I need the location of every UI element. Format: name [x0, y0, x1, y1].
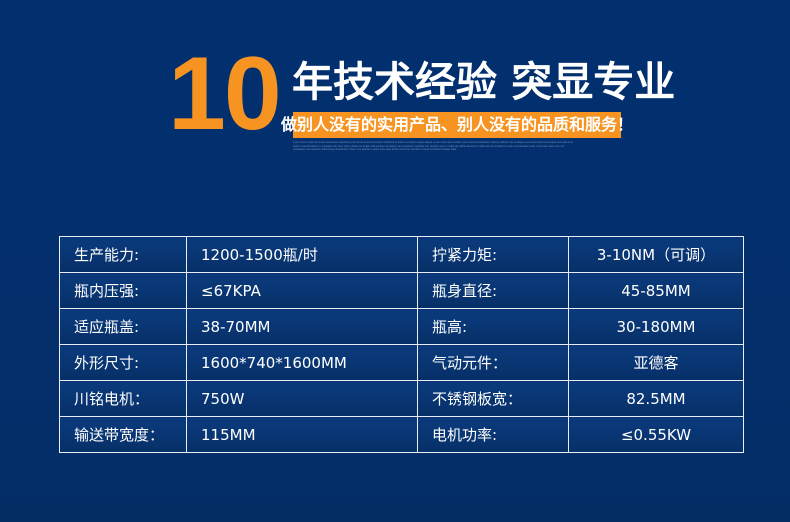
spec-label: 生产能力: — [60, 237, 187, 273]
spec-label: 不锈钢板宽： — [418, 381, 569, 417]
spec-label: 电机功率: — [418, 417, 569, 453]
spec-value: 45-85MM — [569, 273, 744, 309]
table-row: 适应瓶盖: 38-70MM 瓶高: 30-180MM — [60, 309, 744, 345]
spec-label: 瓶高: — [418, 309, 569, 345]
spec-value: 38-70MM — [187, 309, 418, 345]
spec-value: 750W — [187, 381, 418, 417]
spec-value: 82.5MM — [569, 381, 744, 417]
spec-value: 3-10NM（可调） — [569, 237, 744, 273]
spec-label: 输送带宽度： — [60, 417, 187, 453]
spec-label: 气动元件： — [418, 345, 569, 381]
spec-value: ≤67KPA — [187, 273, 418, 309]
table-row: 外形尺寸: 1600*740*1600MM 气动元件： 亚德客 — [60, 345, 744, 381]
table-row: 川铭电机： 750W 不锈钢板宽： 82.5MM — [60, 381, 744, 417]
fine-print-line: voluptatem accusantium doloremque laudan… — [293, 148, 623, 152]
table-row: 瓶内压强: ≤67KPA 瓶身直径: 45-85MM — [60, 273, 744, 309]
spec-label: 瓶身直径: — [418, 273, 569, 309]
spec-label: 适应瓶盖: — [60, 309, 187, 345]
spec-value: ≤0.55KW — [569, 417, 744, 453]
spec-label: 外形尺寸: — [60, 345, 187, 381]
spec-value: 1200-1500瓶/时 — [187, 237, 418, 273]
table-row: 输送带宽度： 115MM 电机功率: ≤0.55KW — [60, 417, 744, 453]
sub-banner-strip: 做别人没有的实用产品、别人没有的品质和服务！ — [293, 112, 621, 138]
spec-label: 川铭电机： — [60, 381, 187, 417]
spec-value: 30-180MM — [569, 309, 744, 345]
spec-value: 1600*740*1600MM — [187, 345, 418, 381]
spec-value: 亚德客 — [569, 345, 744, 381]
table-row: 生产能力: 1200-1500瓶/时 拧紧力矩: 3-10NM（可调） — [60, 237, 744, 273]
spec-label: 瓶内压强: — [60, 273, 187, 309]
sub-banner-text: 做别人没有的实用产品、别人没有的品质和服务！ — [281, 116, 633, 134]
promo-header: 10 年技术经验 突显专业 做别人没有的实用产品、别人没有的品质和服务！ Lor… — [0, 0, 790, 175]
fine-print-block: Lorem ipsum dolor sit amet consectetur a… — [293, 141, 623, 161]
headline-text: 年技术经验 突显专业 — [292, 58, 675, 106]
specification-table: 生产能力: 1200-1500瓶/时 拧紧力矩: 3-10NM（可调） 瓶内压强… — [59, 236, 744, 453]
years-number: 10 — [168, 42, 280, 146]
product-spec-banner: 10 年技术经验 突显专业 做别人没有的实用产品、别人没有的品质和服务！ Lor… — [0, 0, 790, 522]
spec-label: 拧紧力矩: — [418, 237, 569, 273]
spec-value: 115MM — [187, 417, 418, 453]
